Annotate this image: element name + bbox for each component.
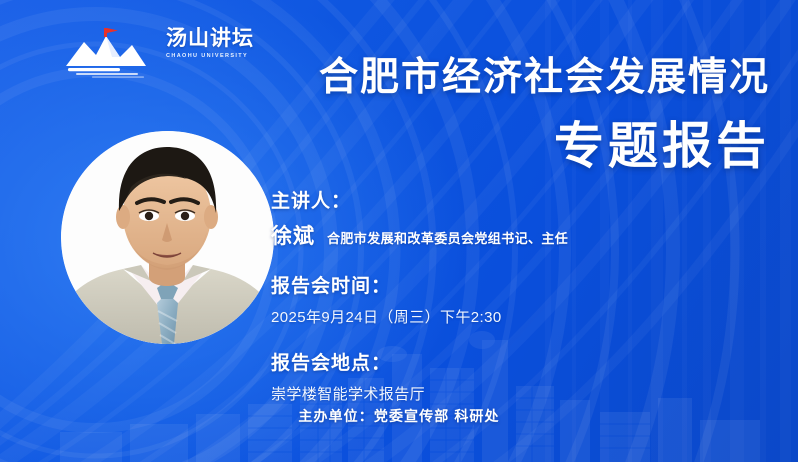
logo-chinese-name: 汤山讲坛	[166, 28, 246, 50]
brand-logo: 汤山讲坛 CHAOHU UNIVERSITY	[62, 22, 242, 80]
venue-group: 报告会地点： 崇学楼智能学术报告厅	[271, 348, 568, 404]
speaker-row: 徐斌 合肥市发展和改革委员会党组书记、主任	[271, 220, 568, 250]
headline-line-1: 合肥市经济社会发展情况	[319, 58, 770, 97]
speaker-position: 合肥市发展和改革委员会党组书记、主任	[327, 228, 568, 247]
speaker-label: 主讲人：	[271, 186, 568, 213]
venue-value: 崇学楼智能学术报告厅	[271, 383, 568, 404]
avatar	[61, 131, 274, 344]
speaker-name: 徐斌	[271, 220, 315, 250]
time-label: 报告会时间：	[271, 271, 568, 298]
speaker-portrait-photo	[61, 131, 274, 344]
poster-banner: 汤山讲坛 CHAOHU UNIVERSITY 合肥市经济社会发展情况 专题报告	[0, 0, 798, 462]
logo-english-name: CHAOHU UNIVERSITY	[166, 53, 248, 59]
organizer-footer: 主办单位：党委宣传部 科研处	[0, 406, 798, 426]
time-value: 2025年9月24日（周三）下午2:30	[271, 306, 568, 327]
venue-label: 报告会地点：	[271, 348, 568, 375]
time-group: 报告会时间： 2025年9月24日（周三）下午2:30	[271, 271, 568, 327]
event-details: 主讲人： 徐斌 合肥市发展和改革委员会党组书记、主任 报告会时间： 2025年9…	[271, 186, 568, 404]
page-title: 合肥市经济社会发展情况 专题报告	[319, 58, 770, 171]
mountain-peaks-logo-icon	[62, 26, 166, 78]
headline-line-2: 专题报告	[319, 121, 770, 171]
